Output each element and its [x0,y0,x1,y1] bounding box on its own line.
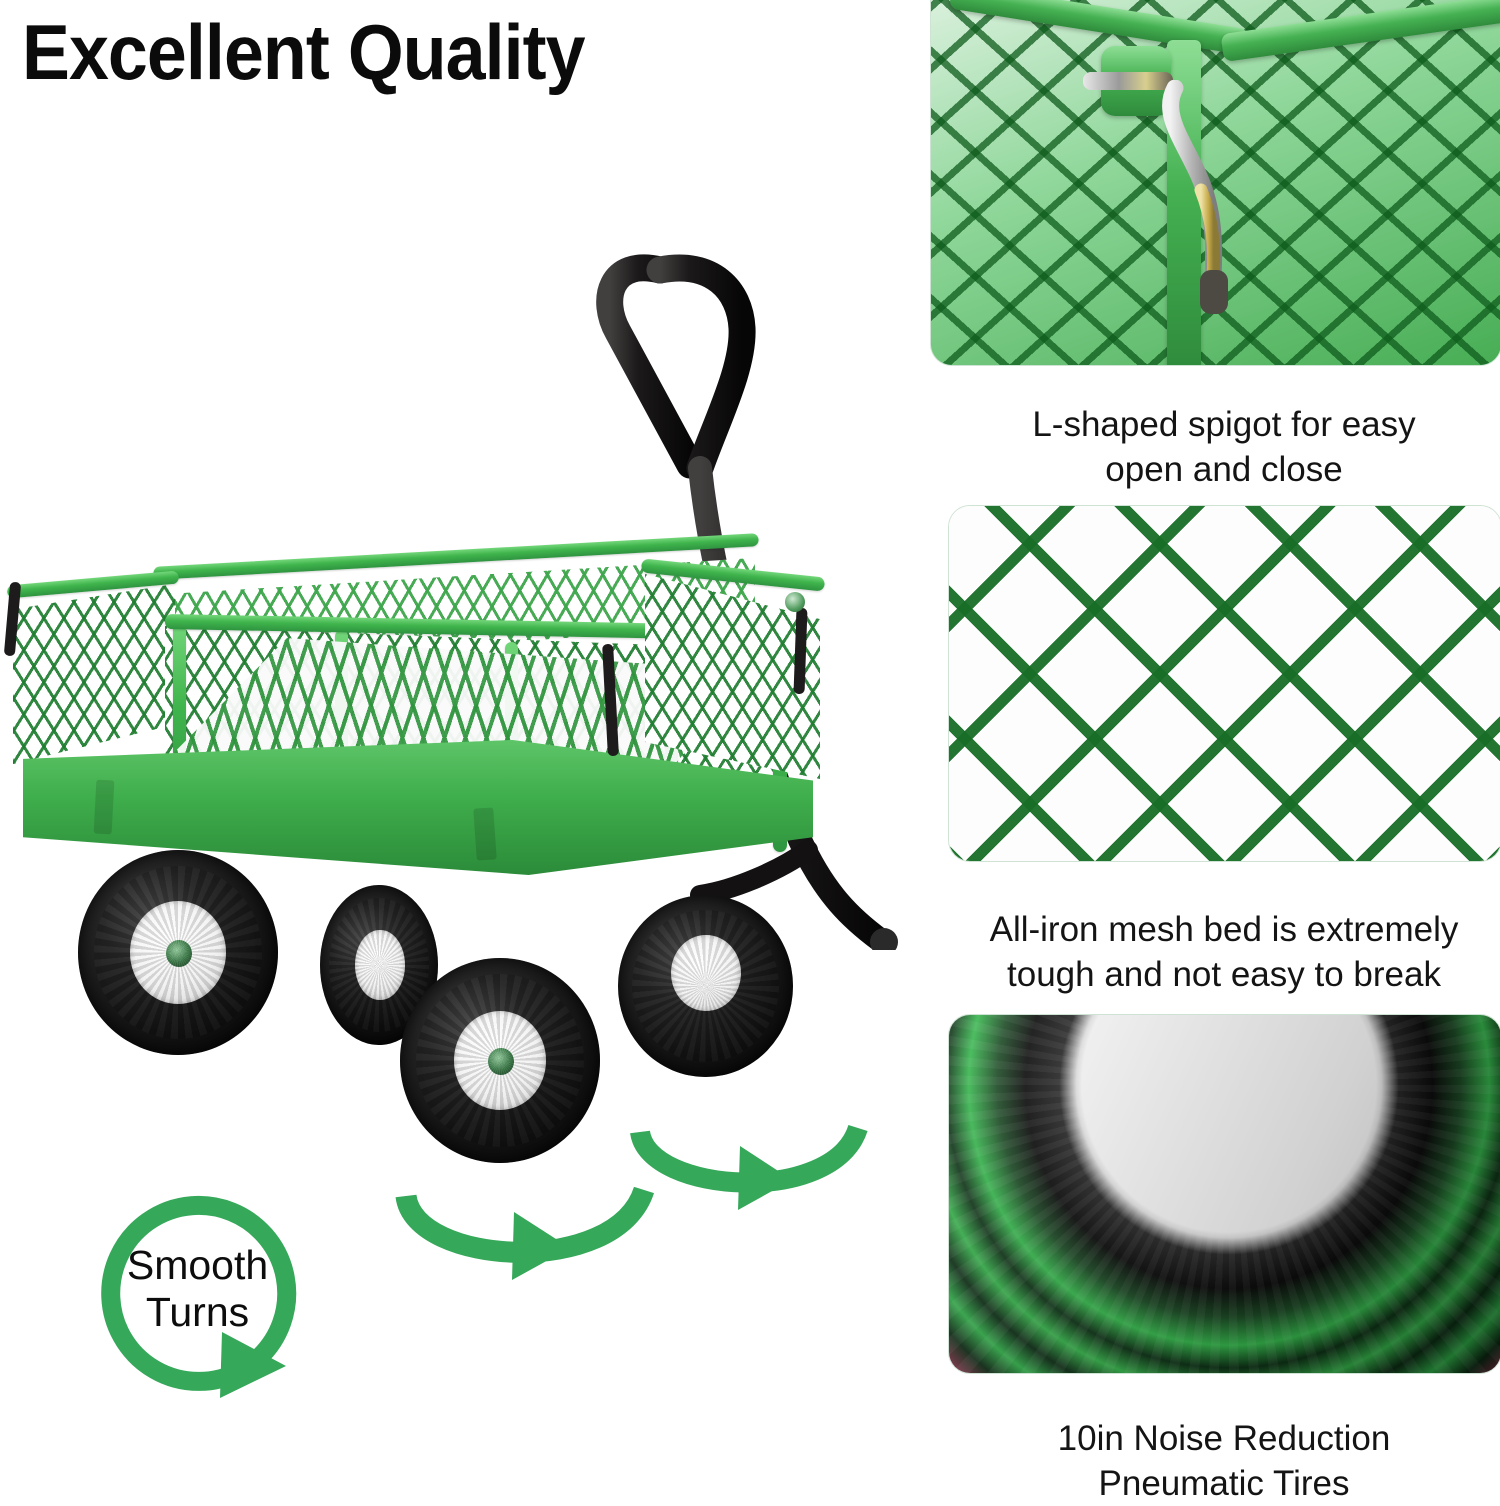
wheel-hub [355,930,405,1000]
wheel-front-left [400,958,600,1163]
wheel-hub [130,901,226,1004]
left-side-mesh-panel [13,584,175,764]
wheel-axle-cap [166,940,192,967]
photo-mesh-background [949,506,1500,861]
caption-line: tough and not easy to break [948,952,1500,997]
tire-photo-background [949,1015,1500,1373]
smooth-turns-label: Smooth Turns [100,1242,295,1336]
tray-seam [473,807,497,860]
wheel-axle-cap [488,1048,514,1075]
caption-spigot: L-shaped spigot for easy open and close [948,402,1500,492]
left-column: Excellent Quality [0,0,930,1482]
corner-bolt [785,592,805,612]
right-column: L-shaped spigot for easy open and close … [930,0,1500,1482]
swivel-arrow-front-left-icon [388,1150,668,1300]
caption-line: L-shaped spigot for easy [948,402,1500,447]
wheel-hub [671,935,741,1011]
wheel-rear-left [78,850,278,1055]
product-infographic: Excellent Quality [0,0,1500,1482]
product-illustration [0,150,930,1210]
feature-card-spigot: L-shaped spigot for easy open and close [948,0,1500,366]
page-title: Excellent Quality [22,6,832,98]
smooth-turns-badge: Smooth Turns [72,1180,322,1410]
caption-line: open and close [948,447,1500,492]
caption-tires: 10in Noise Reduction Pneumatic Tires [948,1416,1500,1506]
wheel-hub [454,1011,546,1109]
smooth-turns-line-2: Turns [100,1289,295,1336]
caption-line: 10in Noise Reduction [948,1416,1500,1461]
tire-shading [949,1015,1500,1373]
mesh-corner-with-l-shaped-latch-photo [930,0,1500,366]
l-shaped-spigot-icon [1157,80,1277,330]
tray-seam [94,780,115,835]
caption-line: Pneumatic Tires [948,1461,1500,1506]
iron-mesh-macro-photo [948,505,1500,862]
smooth-turns-line-1: Smooth [100,1242,295,1289]
feature-card-mesh-bed: All-iron mesh bed is extremely tough and… [948,505,1500,862]
caption-mesh-bed: All-iron mesh bed is extremely tough and… [948,907,1500,997]
wheel-front-right [618,895,793,1077]
caption-line: All-iron mesh bed is extremely [948,907,1500,952]
feature-card-tires: 10in Noise Reduction Pneumatic Tires [948,1014,1500,1374]
pneumatic-tire-macro-photo [948,1014,1500,1374]
